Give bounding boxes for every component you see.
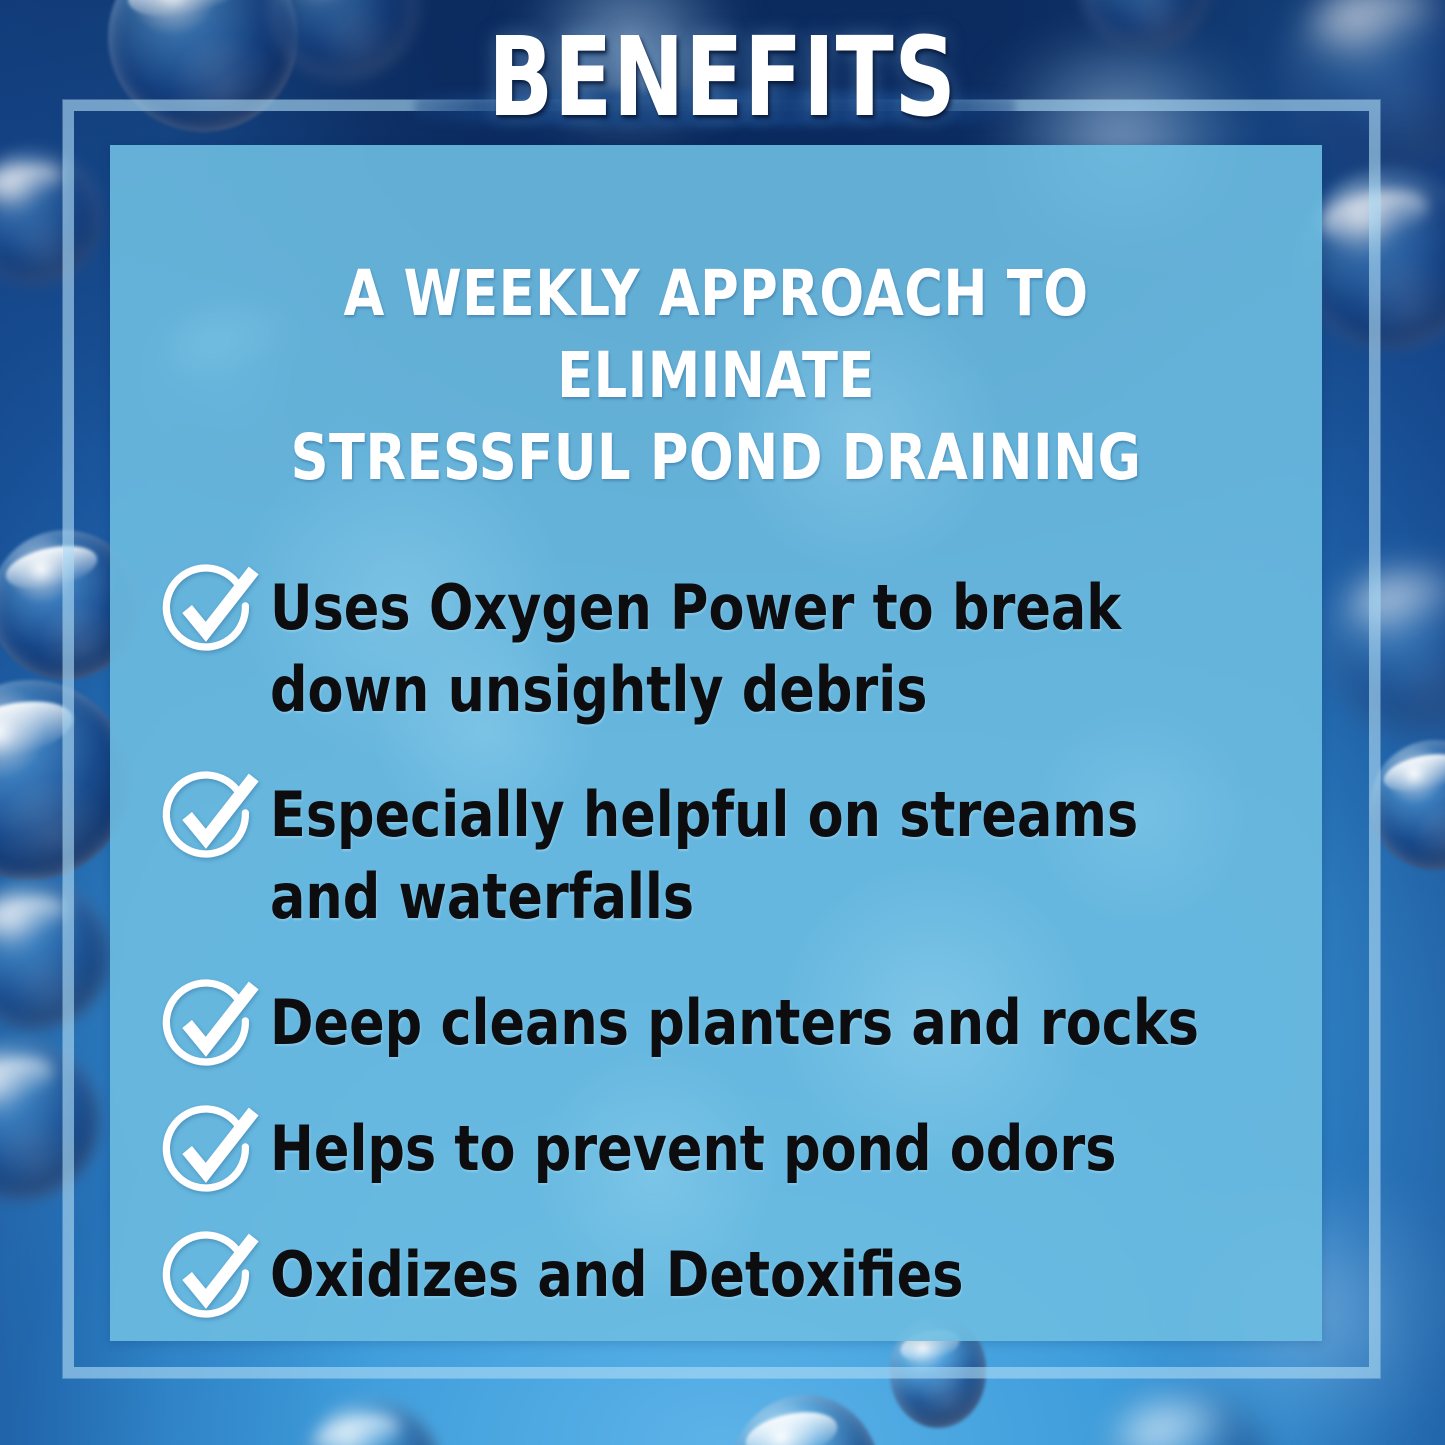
list-item: Oxidizes and Detoxifies (158, 1228, 1268, 1328)
check-circle-icon (158, 972, 262, 1076)
list-item-label: Especially helpful on streams and waterf… (270, 768, 1208, 938)
page-title: BENEFITS (101, 22, 1344, 132)
headline-line-2: STRESSFUL POND DRAINING (195, 417, 1237, 499)
list-item: Deep cleans planters and rocks (158, 976, 1268, 1076)
list-item: Uses Oxygen Power to break down unsightl… (158, 561, 1268, 731)
check-circle-icon (158, 557, 262, 661)
list-item-label: Uses Oxygen Power to break down unsightl… (270, 561, 1208, 731)
list-item: Especially helpful on streams and waterf… (158, 768, 1268, 938)
list-item-label: Deep cleans planters and rocks (270, 976, 1199, 1064)
list-item-label: Oxidizes and Detoxifies (270, 1228, 963, 1316)
check-circle-icon (158, 1224, 262, 1328)
headline-line-1: A WEEKLY APPROACH TO ELIMINATE (195, 253, 1237, 417)
benefits-list: Uses Oxygen Power to break down unsightl… (110, 499, 1322, 1328)
check-circle-icon (158, 1098, 262, 1202)
headline: A WEEKLY APPROACH TO ELIMINATE STRESSFUL… (152, 145, 1279, 499)
check-circle-icon (158, 764, 262, 868)
list-item-label: Helps to prevent pond odors (270, 1102, 1116, 1190)
list-item: Helps to prevent pond odors (158, 1102, 1268, 1202)
benefits-panel: A WEEKLY APPROACH TO ELIMINATE STRESSFUL… (110, 145, 1322, 1341)
benefits-infographic: BENEFITS A WEEKLY APPROACH TO ELIMINATE … (0, 0, 1445, 1445)
